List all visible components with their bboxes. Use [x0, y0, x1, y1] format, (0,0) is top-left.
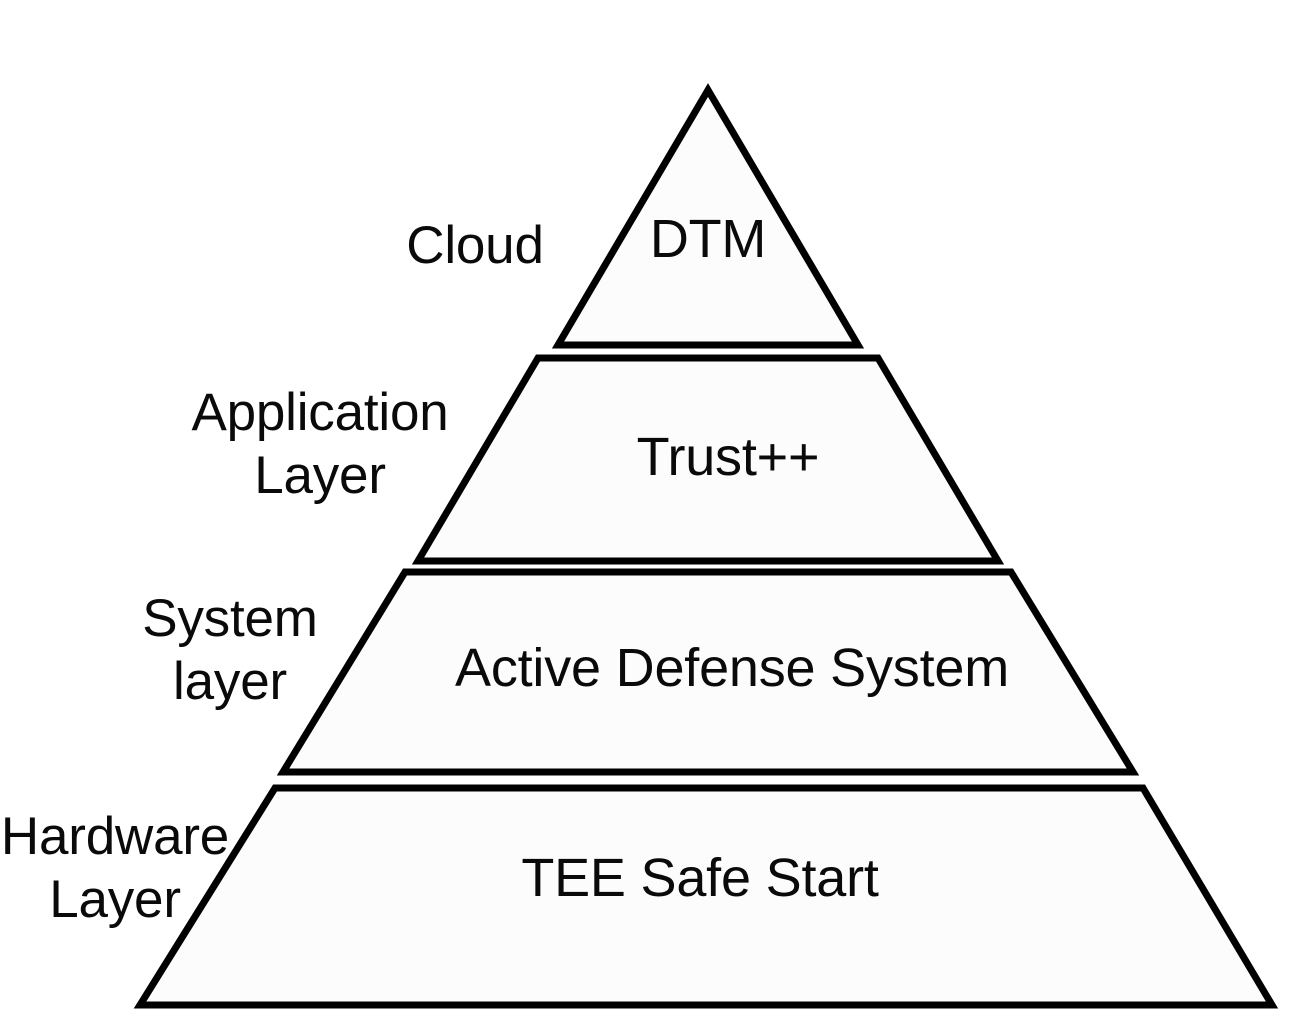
stage-label-hardware-line1: Hardware: [0, 806, 234, 869]
stage-label-cloud-line1: Cloud: [372, 215, 578, 278]
stage-label-system-line2: layer: [118, 651, 342, 714]
stage-label-hardware-line2: Layer: [0, 869, 234, 932]
tier-label-dtm: DTM: [608, 212, 808, 266]
stage-label-application-line1: Application: [180, 382, 460, 445]
stage-label-system-line1: System: [118, 588, 342, 651]
stage-label-system-layer: System layer: [118, 588, 342, 713]
stage-label-hardware-layer: Hardware Layer: [0, 806, 234, 931]
stage-label-application-line2: Layer: [180, 445, 460, 508]
stage-label-cloud: Cloud: [372, 215, 578, 278]
tier-label-tee-safe-start: TEE Safe Start: [480, 851, 920, 905]
tier-label-active-defense-system: Active Defense System: [455, 641, 995, 695]
pyramid-diagram: DTM Trust++ Active Defense System TEE Sa…: [0, 0, 1296, 1013]
stage-label-application-layer: Application Layer: [180, 382, 460, 507]
tier-label-trust-plus-plus: Trust++: [598, 430, 858, 484]
